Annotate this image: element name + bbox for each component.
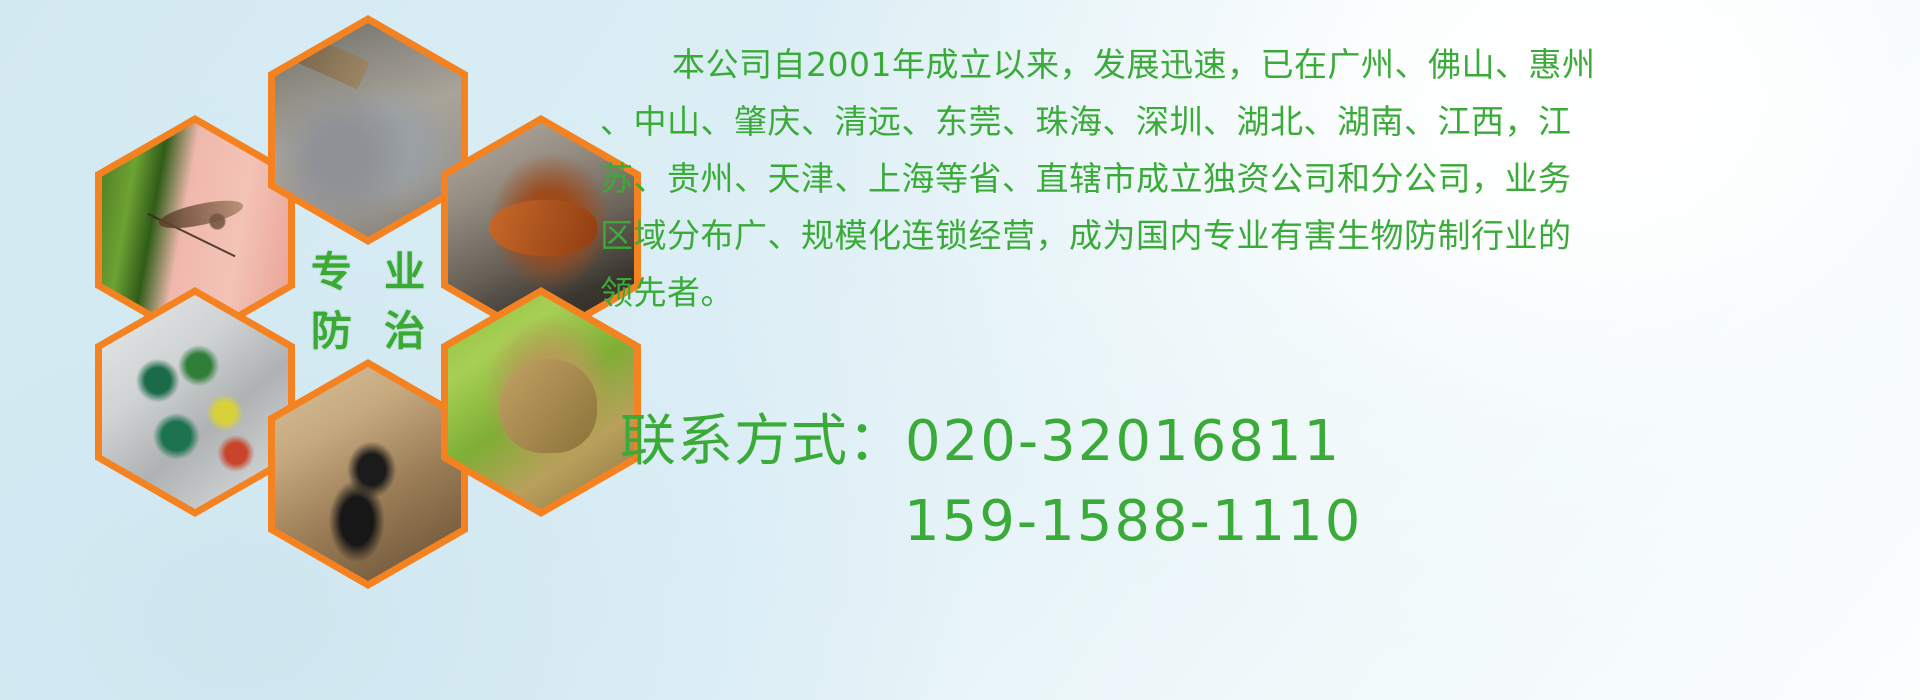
hex-image-stinkbug [448,295,634,509]
description-paragraph: 本公司自2001年成立以来，发展迅速，已在广州、佛山、惠州 、中山、肇庆、清远、… [600,36,1900,321]
contact-block: 联系方式：020-32016811 159-1588-1110 [620,402,1920,562]
contact-primary-line: 联系方式：020-32016811 [620,402,1920,482]
slogan-line-2: 防 治 [302,302,434,361]
honeycomb-gallery: 专 业 防 治 [95,0,595,570]
paragraph-line-4: 区域分布广、规模化连锁经营，成为国内专业有害生物防制行业的 [600,207,1900,264]
contact-phone-secondary[interactable]: 159-1588-1110 [904,489,1362,554]
paragraph-line-3: 苏、贵州、天津、上海等省、直辖市成立独资公司和分公司，业务 [600,150,1900,207]
stinkbug-photo [448,295,634,509]
hex-image-flies [102,295,288,509]
contact-secondary-line: 159-1588-1110 [620,482,1920,562]
contact-label: 联系方式： [620,409,905,474]
flies-photo [102,295,288,509]
paragraph-line-5: 领先者。 [600,264,1900,321]
company-description: 本公司自2001年成立以来，发展迅速，已在广州、佛山、惠州 、中山、肇庆、清远、… [600,36,1900,321]
slogan-container: 专 业 防 治 [268,187,468,417]
paragraph-line-2: 、中山、肇庆、清远、东莞、珠海、深圳、湖北、湖南、江西，江 [600,93,1900,150]
hex-cell-flies[interactable] [95,287,295,517]
hex-cell-stinkbug[interactable] [441,287,641,517]
hex-cell-center-slogan: 专 业 防 治 [268,187,468,417]
paragraph-line-1: 本公司自2001年成立以来，发展迅速，已在广州、佛山、惠州 [600,36,1900,93]
slogan-line-1: 专 业 [302,243,434,302]
contact-phone-primary[interactable]: 020-32016811 [905,409,1341,474]
promo-banner: 专 业 防 治 本公司自2001年成立以来，发展迅速，已在广州、佛山、惠州 、中… [0,0,1920,700]
